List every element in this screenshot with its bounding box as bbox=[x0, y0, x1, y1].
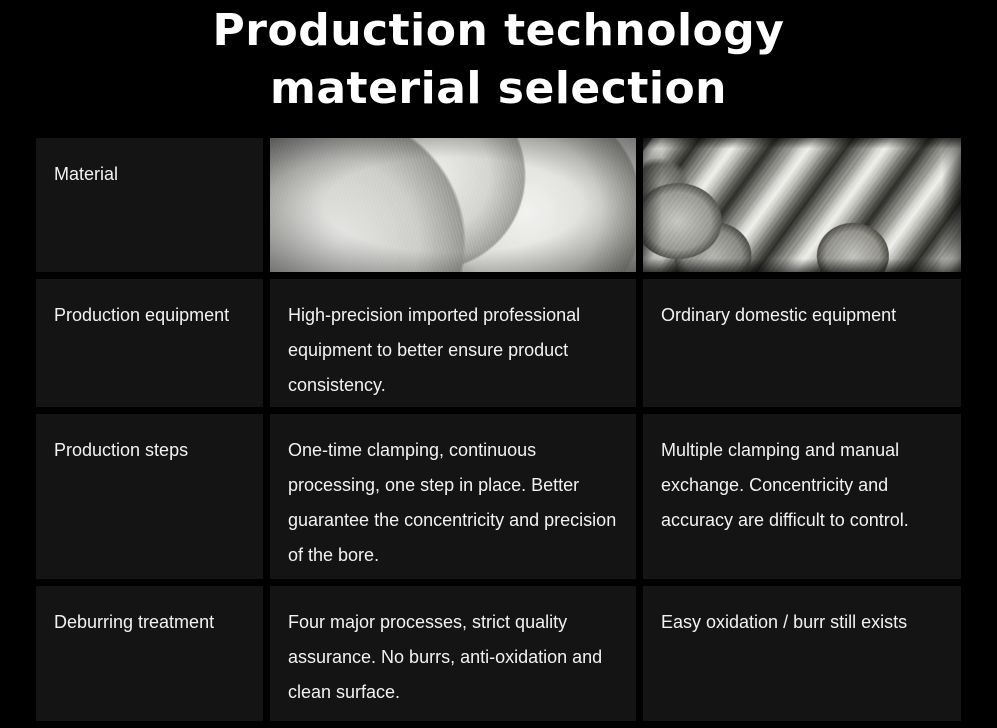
row-label-cell-material: Material bbox=[36, 138, 263, 272]
table-row: Deburring treatment Four major processes… bbox=[36, 586, 961, 721]
row-label-cell-production-steps: Production steps bbox=[36, 414, 263, 579]
table-row: Production equipment High-precision impo… bbox=[36, 279, 961, 407]
row-label-cell-production-equipment: Production equipment bbox=[36, 279, 263, 407]
photo-aluminum-bar-ends bbox=[270, 138, 636, 272]
cell-production-equipment-ours: High-precision imported professional equ… bbox=[270, 279, 636, 407]
cell-production-steps-ours: One-time clamping, continuous processing… bbox=[270, 414, 636, 579]
cell-text-production-steps-ours: One-time clamping, continuous processing… bbox=[270, 414, 636, 573]
photo-vignette-overlay bbox=[643, 138, 961, 272]
cell-production-steps-others: Multiple clamping and manual exchange. C… bbox=[643, 414, 961, 579]
comparison-table: Material Production equipment High-preci… bbox=[36, 138, 961, 728]
cell-text-production-steps-others: Multiple clamping and manual exchange. C… bbox=[643, 414, 961, 538]
cell-deburring-treatment-ours: Four major processes, strict quality ass… bbox=[270, 586, 636, 721]
cell-text-deburring-treatment-others: Easy oxidation / burr still exists bbox=[643, 586, 961, 640]
photo-aluminum-long-bars bbox=[643, 138, 961, 272]
page-title-line-2: material selection bbox=[0, 60, 997, 118]
cell-text-deburring-treatment-ours: Four major processes, strict quality ass… bbox=[270, 586, 636, 710]
table-row: Production steps One-time clamping, cont… bbox=[36, 414, 961, 579]
cell-text-production-equipment-ours: High-precision imported professional equ… bbox=[270, 279, 636, 403]
cell-production-equipment-others: Ordinary domestic equipment bbox=[643, 279, 961, 407]
row-label-cell-deburring-treatment: Deburring treatment bbox=[36, 586, 263, 721]
cell-text-production-equipment-others: Ordinary domestic equipment bbox=[643, 279, 961, 333]
row-label-deburring-treatment: Deburring treatment bbox=[36, 586, 263, 640]
row-label-production-equipment: Production equipment bbox=[36, 279, 263, 333]
photo-vignette-overlay bbox=[270, 138, 636, 272]
cell-deburring-treatment-others: Easy oxidation / burr still exists bbox=[643, 586, 961, 721]
row-label-material: Material bbox=[36, 138, 263, 192]
row-label-production-steps: Production steps bbox=[36, 414, 263, 468]
page-title: Production technology material selection bbox=[0, 0, 997, 118]
table-row: Material bbox=[36, 138, 961, 272]
page-title-line-1: Production technology bbox=[0, 2, 997, 60]
